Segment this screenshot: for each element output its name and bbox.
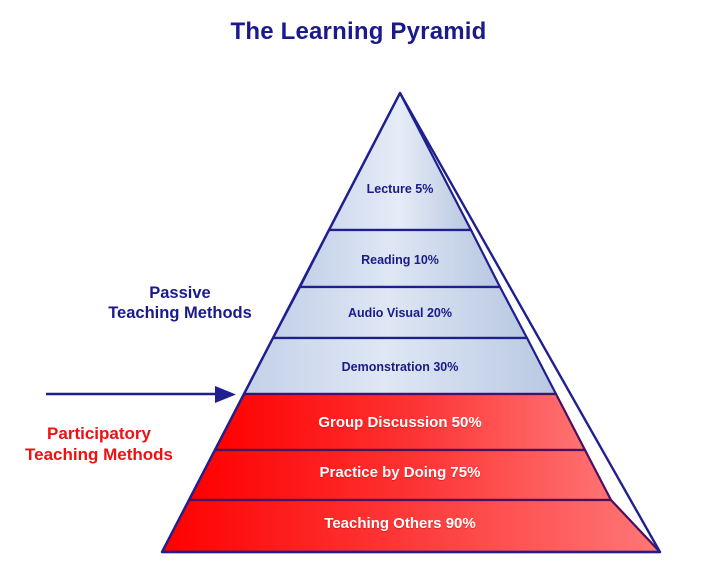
- pyramid-layer-practice-by-doing: [189, 450, 611, 500]
- pyramid-layer-reading: [300, 230, 500, 287]
- group-label-participatory-line1: Participatory: [8, 424, 190, 445]
- group-label-participatory: Participatory Teaching Methods: [8, 424, 190, 465]
- pyramid-layer-demonstration: [244, 338, 556, 394]
- pyramid-layer-lecture: [329, 93, 471, 230]
- pyramid-layer-teaching-others: [162, 500, 660, 552]
- learning-pyramid-diagram: The Learning Pyramid: [0, 0, 717, 567]
- pyramid-layer-group-discussion: [215, 394, 585, 450]
- group-label-passive-line1: Passive: [96, 283, 264, 303]
- participatory-divider-arrow: [46, 386, 236, 403]
- group-label-passive-line2: Teaching Methods: [96, 303, 264, 323]
- pyramid-layer-audio-visual: [273, 287, 527, 338]
- group-label-passive: Passive Teaching Methods: [96, 283, 264, 323]
- group-label-participatory-line2: Teaching Methods: [8, 445, 190, 466]
